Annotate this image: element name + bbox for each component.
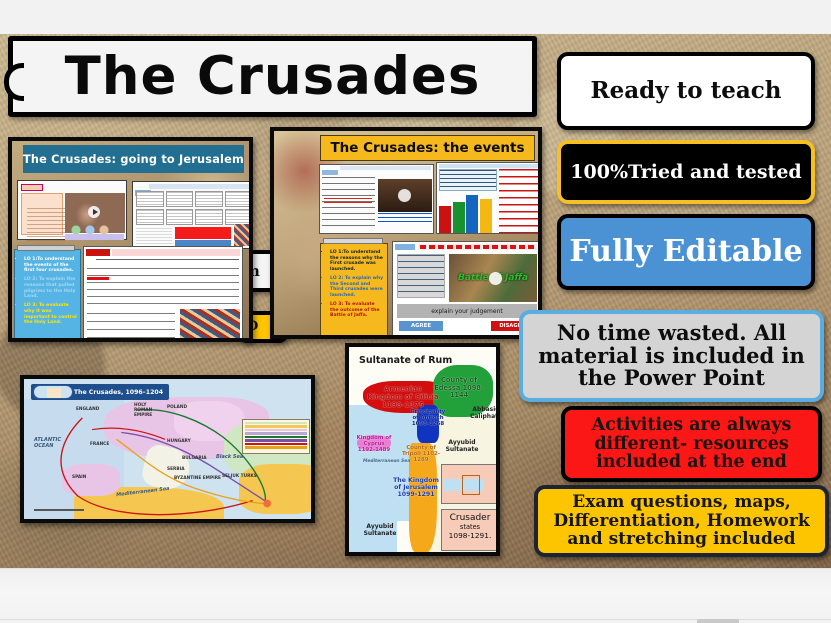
callout-tried-and-tested: 100%Tried and tested <box>557 140 815 204</box>
slide2-task1-pill <box>322 170 338 175</box>
slide2-statement-box <box>397 254 445 298</box>
slide2-question-box <box>439 169 497 191</box>
callout-activities-label: Activities are always different- resourc… <box>572 416 811 473</box>
play-icon[interactable] <box>88 206 100 218</box>
callout-ready-to-teach: Ready to teach <box>557 52 815 130</box>
column-green <box>453 202 465 233</box>
map1-label-france: FRANCE <box>90 442 109 447</box>
map1-legend <box>242 419 310 454</box>
slide2-task1-panel <box>319 164 434 234</box>
bottom-strip <box>0 568 831 623</box>
callout-exam-questions: Exam questions, maps, Differentiation, H… <box>534 485 829 557</box>
slide2-task2-panel <box>436 162 542 234</box>
legend-swatch-other <box>245 432 307 434</box>
legend-swatch-fourth-crusade <box>245 446 307 448</box>
inset-sea <box>444 479 484 491</box>
slide2-agree-button[interactable]: AGREE <box>399 321 443 331</box>
slide2-lo-2: LO 2: To explain why the Second and Thir… <box>330 276 384 299</box>
slide1-lo-1: LO 1:To understand the events of the fir… <box>24 257 78 274</box>
slide2-lo-1: LO 1:To understand the reasons why the F… <box>330 250 384 273</box>
globe-icon <box>33 385 73 399</box>
slide1-task3-instruction <box>96 259 239 264</box>
slide1-task2-text <box>136 228 172 247</box>
map2-label-ayyubid: Ayyubid Sultanate <box>445 440 479 454</box>
slide1-task2-red-banner <box>175 227 231 239</box>
slide2-agree-label: AGREE <box>411 323 431 329</box>
card <box>225 209 253 225</box>
map1-label-hre: HOLY ROMAN EMPIRE <box>134 403 158 418</box>
legend-swatch-christian <box>245 422 307 424</box>
map2-label-mediterranean: Mediterranean Sea <box>363 459 410 464</box>
map2-key-dates: 1098-1291. <box>442 531 498 540</box>
map2-label-antioch: Principality of Antioch 1098-1268 <box>409 409 447 428</box>
slide1-lo-2: LO 2: To explain the reasons that pulled… <box>24 277 78 300</box>
slide2-lo-panel-header <box>323 238 383 244</box>
map1-label-black-sea: Black Sea <box>216 454 243 460</box>
slide1-task2-aim <box>149 184 252 189</box>
card <box>195 209 223 225</box>
callout-no-time-wasted: No time wasted. All material is included… <box>519 310 824 402</box>
card <box>166 191 194 207</box>
slide1-lo-3: LO 3: To evaluate why it was important t… <box>24 303 78 326</box>
slide1-icon-row <box>68 225 118 234</box>
slide2-task1-red-text <box>324 198 372 205</box>
map2-title: Sultanate of Rum <box>359 355 452 366</box>
slide2-judgement-slider[interactable]: explain your judgement <box>397 304 537 318</box>
map2-key-box: Crusader states 1098-1291. <box>441 509 499 551</box>
slide1-video-panel <box>17 180 127 240</box>
slide2-task3-aim <box>418 244 539 250</box>
map2-label-ayyubid-2: Ayyubid Sultanate <box>363 524 397 538</box>
slide1-task3-aim <box>112 249 240 256</box>
slide1-text-lines <box>27 208 65 244</box>
slide2-task2-red-notes <box>499 169 539 233</box>
slide1-heading-banner: The Crusades: going to Jerusalem <box>23 145 244 173</box>
map2-key-title: Crusader <box>442 513 498 523</box>
slide-thumbnail-going-to-jerusalem[interactable]: The Crusades: going to Jerusalem <box>8 137 253 342</box>
column-blue <box>466 195 478 233</box>
map2-label-abbasid: Abbasid Caliphate <box>469 407 500 421</box>
slide2-heading-text: The Crusades: the events <box>330 140 524 156</box>
map1-title: The Crusades, 1096–1204 <box>74 389 163 396</box>
map-thumbnail-crusader-states[interactable]: Sultanate of Rum Armenian Kingdom of Cil… <box>345 343 500 556</box>
map1-label-atlantic: ATLANTIC OCEAN <box>34 437 64 449</box>
callout-activities-always-different: Activities are always different- resourc… <box>561 406 822 482</box>
legend-swatch-second-crusade <box>245 439 307 441</box>
map1-scale-bar <box>34 505 86 514</box>
slide1-task3-starters <box>87 313 175 341</box>
slide1-task2-illustration <box>234 224 253 246</box>
bottom-scroll-tab[interactable] <box>697 619 739 623</box>
column-yellow <box>480 199 492 233</box>
slide2-battle-of-jaffa-video[interactable]: Battle of Jaffa <box>449 254 537 302</box>
callout-fully-editable: Fully Editable <box>557 214 815 290</box>
slide1-task3-panel <box>83 246 243 342</box>
slide2-task2-aim <box>439 164 539 168</box>
map2-locator-inset <box>441 464 499 504</box>
map2-label-jerusalem: The Kingdom of Jerusalem 1099-1291 <box>391 477 441 498</box>
slide1-task2-card-grid <box>136 191 252 225</box>
slide2-task3-label <box>395 244 415 250</box>
callout-ready-to-teach-label: Ready to teach <box>591 79 782 104</box>
slide2-slider-label: explain your judgement <box>431 308 503 315</box>
map1-label-poland: POLAND <box>167 405 187 410</box>
page-title: The Crusades <box>65 50 481 103</box>
slide1-task3-highlight <box>87 277 109 280</box>
card <box>166 209 194 225</box>
map1-label-serbia: SERBIA <box>167 467 185 472</box>
slide1-lo-panel-header <box>17 245 75 251</box>
card <box>225 191 253 207</box>
card <box>195 191 223 207</box>
map1-label-seljuk: SELJUK TURKS <box>222 474 257 479</box>
slide2-learning-outcomes-panel: LO 1:To understand the reasons why the F… <box>320 243 388 337</box>
card <box>136 191 164 207</box>
card <box>136 209 164 225</box>
legend-swatch-third-crusade <box>245 443 307 445</box>
slide-thumbnail-the-events[interactable]: The Crusades: the events LO 1:To <box>270 127 542 339</box>
slide2-lo-3: LO 3: To evaluate the outcome of the Bat… <box>330 302 384 319</box>
slide2-task1-aim <box>340 166 431 170</box>
slide-cover-page: The Crusades m D Ready to teach 100%Trie… <box>0 0 831 623</box>
slide1-task1-pill <box>21 184 43 191</box>
legend-swatch-muslim <box>245 425 307 427</box>
legend-swatch-first-crusade <box>245 436 307 438</box>
title-banner: The Crusades <box>8 36 537 117</box>
slide2-lo-list: LO 1:To understand the reasons why the F… <box>324 250 384 319</box>
map1-label-bulgaria: BULGARIA <box>182 456 207 461</box>
map2-label-cyprus: Kingdom of Cyprus 1192-1489 <box>355 435 393 454</box>
map2-label-cilicia: Armenian Kingdom of Cilicia 1198-1375 <box>367 385 439 409</box>
column-red <box>439 206 451 233</box>
slide1-purple-strip <box>65 234 124 240</box>
slide1-task3-illustration <box>180 309 240 342</box>
slide1-lo-list: LO 1:To understand the events of the fir… <box>18 257 78 326</box>
callout-no-time-wasted-label: No time wasted. All material is included… <box>530 322 813 390</box>
callout-tried-and-tested-label: 100%Tried and tested <box>570 162 801 183</box>
slide1-task3-label <box>86 249 110 256</box>
map1-label-spain: SPAIN <box>72 475 86 480</box>
slide1-peach-textbox <box>21 193 63 235</box>
slide1-heading-text: The Crusades: going to Jerusalem <box>23 153 244 166</box>
slide2-heading-banner: The Crusades: the events <box>320 135 535 161</box>
slide2-first-crusade-video[interactable] <box>378 179 432 212</box>
legend-swatch-crusader-kingdoms <box>245 429 307 431</box>
slide1-learning-outcomes-panel: LO 1:To understand the events of the fir… <box>14 249 81 342</box>
slide2-video-title: Battle of Jaffa <box>458 273 528 283</box>
callout-fully-editable-label: Fully Editable <box>569 236 802 268</box>
map2-key-subtitle: states <box>442 523 498 531</box>
slide1-task2-panel <box>132 181 253 249</box>
slide2-video-caption <box>378 213 432 222</box>
scale-line <box>34 509 84 511</box>
map1-label-byzantine: BYZANTINE EMPIRE <box>174 476 221 481</box>
slide2-colour-columns <box>439 193 497 233</box>
callout-exam-questions-label: Exam questions, maps, Differentiation, H… <box>545 493 818 548</box>
slide1-task3-bullets <box>87 268 239 310</box>
map-thumbnail-crusades-routes[interactable]: The Crusades, 1096–1204 ENGLAND FRANCE S… <box>20 375 315 523</box>
map1-label-hungary: HUNGARY <box>167 439 191 444</box>
map1-label-england: ENGLAND <box>76 407 99 412</box>
map2-label-edessa: County of Edessa 1098-1144 <box>431 377 487 400</box>
